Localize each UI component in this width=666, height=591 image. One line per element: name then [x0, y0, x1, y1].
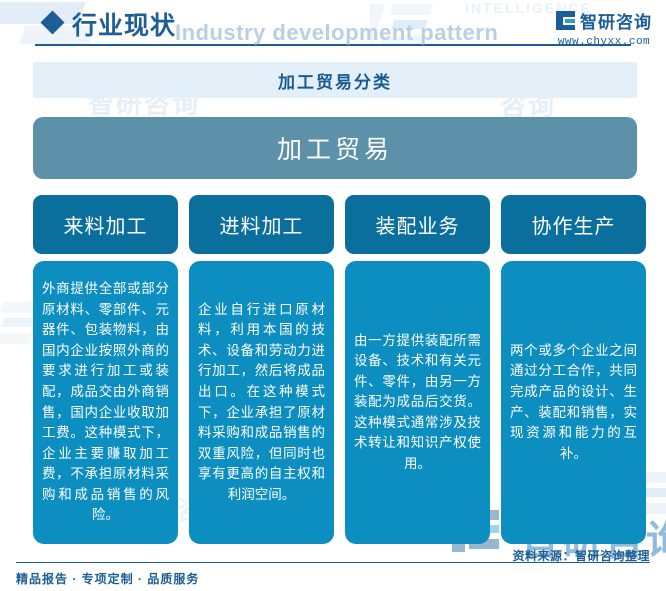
category-column: 协作生产 两个或多个企业之间通过分工合作，共同完成产品的设计、生产、装配和销售，…: [501, 195, 646, 544]
category-body-text: 由一方提供装配所需设备、技术和有关元件、零件，由另一方装配为成品后交货。这种模式…: [354, 331, 481, 475]
category-body: 企业自行进口原材料，利用本国的技术、设备和劳动力进行加工，然后将成品出口。在这种…: [189, 261, 334, 544]
category-header[interactable]: 进料加工: [189, 195, 334, 254]
category-header-label: 进料加工: [220, 210, 304, 239]
category-columns: 来料加工 外商提供全部或部分原材料、零部件、元器件、包装物料，由国内企业按照外商…: [33, 195, 637, 544]
category-column: 进料加工 企业自行进口原材料，利用本国的技术、设备和劳动力进行加工，然后将成品出…: [189, 195, 334, 544]
chyxx-logo-icon: [556, 11, 575, 30]
category-body-text: 外商提供全部或部分原材料、零部件、元器件、包装物料，由国内企业按照外商的要求进行…: [42, 279, 169, 525]
page-header: 行业现状 Industry development pattern 智研咨询 w…: [0, 0, 666, 52]
diamond-icon: [40, 10, 64, 34]
category-body: 两个或多个企业之间通过分工合作，共同完成产品的设计、生产、装配和销售，实现资源和…: [501, 261, 646, 544]
category-body: 由一方提供装配所需设备、技术和有关元件、零件，由另一方装配为成品后交货。这种模式…: [345, 261, 490, 544]
category-header-label: 协作生产: [532, 210, 616, 239]
category-header[interactable]: 来料加工: [33, 195, 178, 254]
category-column: 来料加工 外商提供全部或部分原材料、零部件、元器件、包装物料，由国内企业按照外商…: [33, 195, 178, 544]
page-title: 行业现状: [72, 6, 176, 42]
chart-title-bar: 加工贸易分类: [33, 62, 637, 98]
category-column: 装配业务 由一方提供装配所需设备、技术和有关元件、零件，由另一方装配为成品后交货…: [345, 195, 490, 544]
footer-divider: [16, 562, 650, 563]
category-body-text: 企业自行进口原材料，利用本国的技术、设备和劳动力进行加工，然后将成品出口。在这种…: [198, 300, 325, 505]
brand-name: 智研咨询: [580, 8, 652, 33]
category-body: 外商提供全部或部分原材料、零部件、元器件、包装物料，由国内企业按照外商的要求进行…: [33, 261, 178, 544]
root-node: 加工贸易: [33, 117, 637, 179]
footer-tagline: 精品报告 · 专项定制 · 品质服务: [16, 570, 199, 587]
brand-block: 智研咨询 www.chyxx.com: [556, 8, 652, 48]
brand-url: www.chyxx.com: [556, 36, 652, 48]
header-watermark-text: Industry development pattern: [175, 20, 498, 46]
category-header[interactable]: 装配业务: [345, 195, 490, 254]
category-header-label: 装配业务: [376, 210, 460, 239]
category-header-label: 来料加工: [64, 210, 148, 239]
root-node-label: 加工贸易: [277, 130, 393, 166]
category-header[interactable]: 协作生产: [501, 195, 646, 254]
chart-title-text: 加工贸易分类: [278, 68, 392, 93]
category-body-text: 两个或多个企业之间通过分工合作，共同完成产品的设计、生产、装配和销售，实现资源和…: [510, 341, 637, 464]
